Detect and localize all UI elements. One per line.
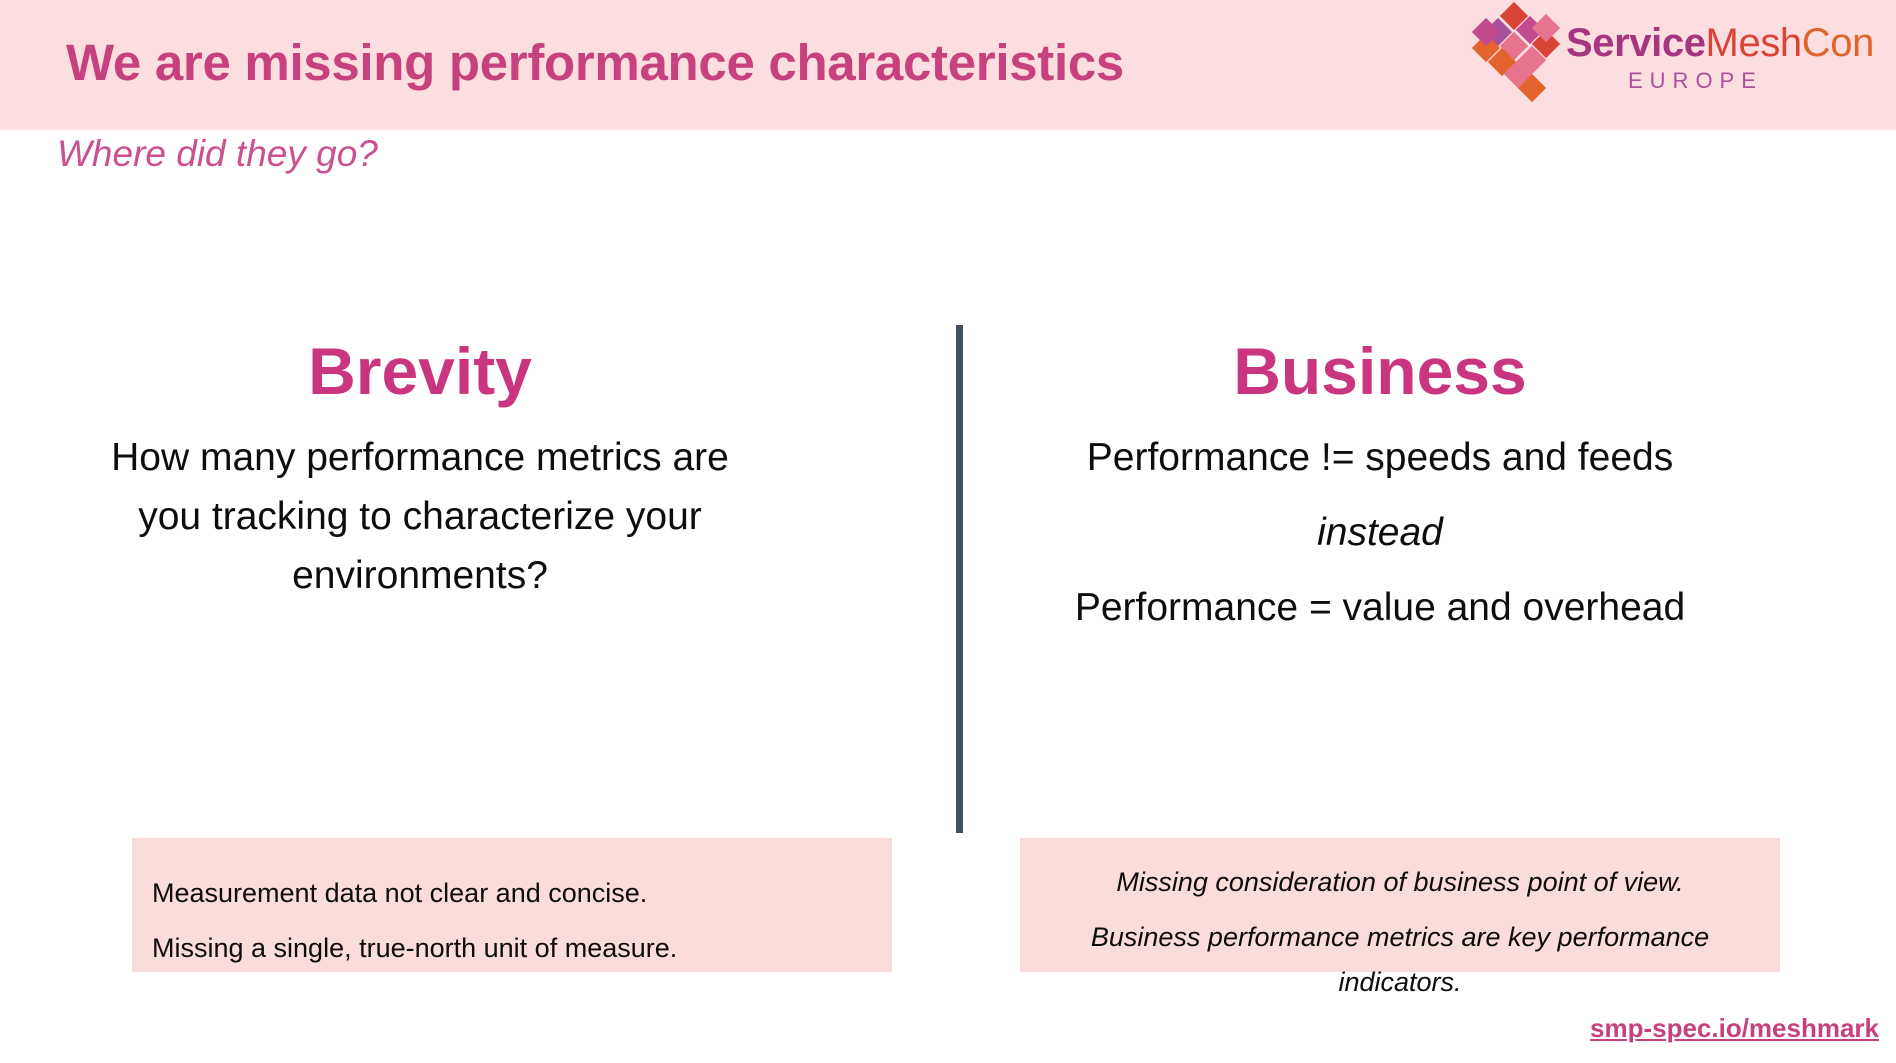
callout-business: Missing consideration of business point … — [1020, 838, 1780, 972]
body-line-instead: instead — [1317, 511, 1443, 554]
column-heading-business: Business — [1000, 330, 1760, 412]
callout-line: Missing consideration of business point … — [1044, 860, 1756, 905]
footer-link-smp-spec[interactable]: smp-spec.io/meshmark — [1590, 1013, 1879, 1044]
column-brevity: Brevity How many performance metrics are… — [40, 330, 800, 605]
callout-line: Measurement data not clear and concise. — [152, 866, 872, 921]
column-heading-brevity: Brevity — [40, 330, 800, 412]
body-line: Performance != speeds and feeds — [1016, 428, 1744, 487]
servicemeshcon-logo: ServiceMeshCon EUROPE — [1470, 4, 1890, 122]
slide-subtitle: Where did they go? — [57, 133, 378, 175]
mesh-diamond-icon — [1478, 8, 1562, 92]
logo-word-mesh: Mesh — [1706, 21, 1802, 65]
column-divider — [956, 325, 963, 833]
logo-word-con: Con — [1802, 21, 1874, 65]
logo-wordmark: ServiceMeshCon — [1566, 20, 1874, 66]
column-business: Business Performance != speeds and feeds… — [1000, 330, 1760, 637]
column-body-brevity: How many performance metrics are you tra… — [40, 428, 800, 605]
logo-region-label: EUROPE — [1628, 68, 1763, 94]
callout-line: Missing a single, true-north unit of mea… — [152, 921, 872, 976]
body-line: you tracking to characterize your — [88, 487, 752, 546]
logo-word-service: Service — [1566, 21, 1706, 65]
body-line: Performance = value and overhead — [1016, 578, 1744, 637]
column-body-business: Performance != speeds and feeds instead … — [1000, 428, 1760, 637]
page-title: We are missing performance characteristi… — [66, 20, 1446, 106]
body-line: environments? — [88, 546, 752, 605]
body-line-emphasis: instead — [1016, 503, 1744, 562]
body-line: How many performance metrics are — [88, 428, 752, 487]
callout-brevity: Measurement data not clear and concise. … — [132, 838, 892, 972]
callout-line: Business performance metrics are key per… — [1044, 915, 1756, 1005]
